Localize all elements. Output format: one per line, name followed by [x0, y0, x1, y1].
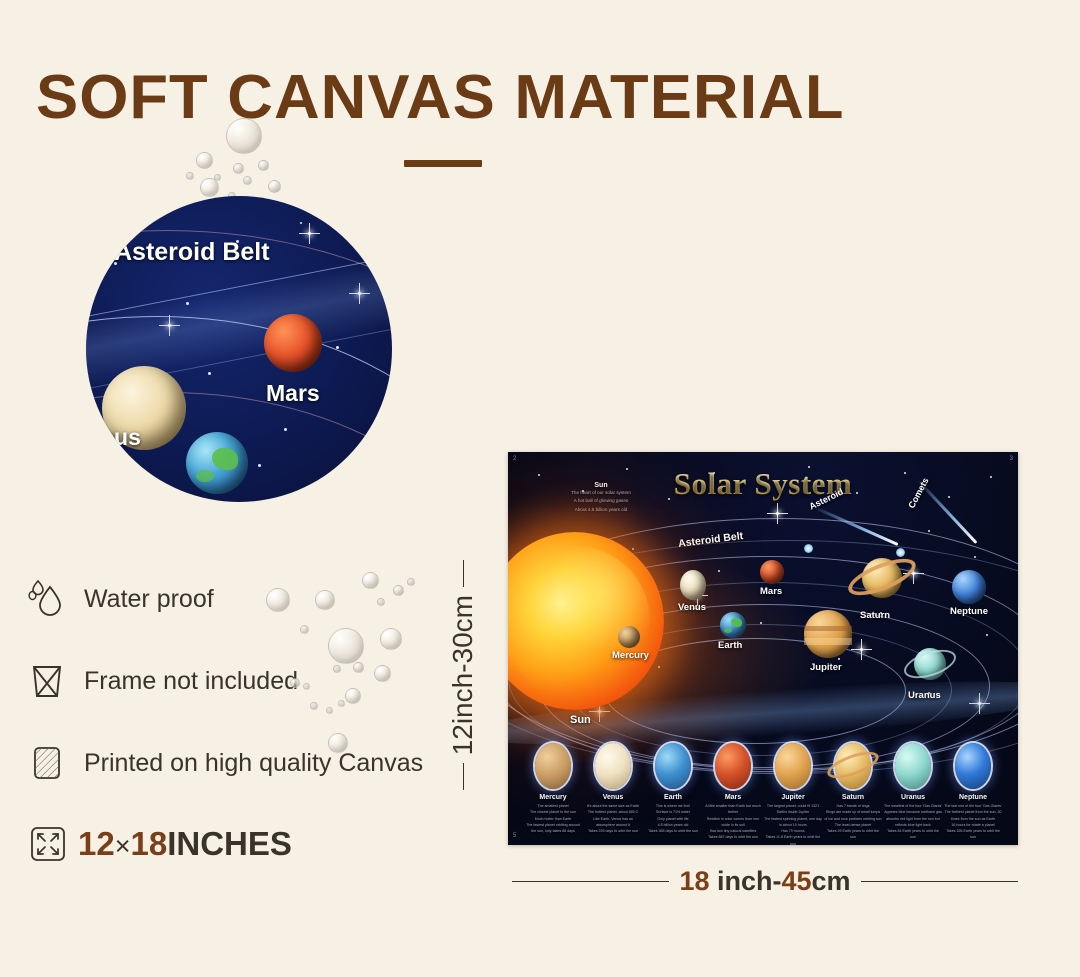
frame-crossed-icon — [26, 660, 68, 702]
feature-label: Water proof — [84, 585, 214, 614]
planet-portrait-uranus — [895, 743, 931, 789]
dimension-width-inch-unit: inch- — [709, 866, 781, 896]
feature-water-proof: Water proof — [26, 578, 214, 620]
title-underline — [404, 160, 482, 167]
planet-label-neptune: Neptune — [950, 606, 988, 617]
closeup-planet-mars — [264, 314, 322, 372]
planet-uranus — [904, 640, 956, 692]
asteroid-head — [804, 544, 813, 553]
planet-card: Mars A little smaller than Earth but muc… — [704, 743, 762, 841]
planet-label-uranus: Uranus — [908, 690, 941, 701]
planet-card-name: Mars — [704, 794, 762, 801]
planet-venus — [680, 570, 706, 600]
feature-canvas-quality: Printed on high quality Canvas — [26, 742, 423, 784]
solar-system-poster: 2 3 5 Solar System — [508, 452, 1018, 845]
planet-earth — [720, 612, 746, 638]
closeup-venus-label: nus — [100, 424, 141, 451]
size-width: 12 — [78, 825, 115, 862]
dimension-width-cm: 45 — [781, 866, 811, 896]
planet-card-name: Neptune — [944, 794, 1002, 801]
canvas-closeup-inset: Asteroid Belt nus Mars — [86, 196, 392, 502]
planet-label-mars: Mars — [760, 586, 782, 597]
sun-note-line: The heart of our solar system — [546, 489, 656, 497]
dimension-height: 12inch-30cm — [447, 560, 479, 790]
dimension-tick-bottom — [463, 763, 464, 790]
planet-jupiter — [804, 610, 852, 658]
planet-saturn — [848, 544, 916, 612]
sun-label: Sun — [570, 714, 591, 726]
dimension-width-cm-unit: cm — [812, 866, 851, 896]
planet-card: Venus It's about the same size as EarthT… — [584, 743, 642, 834]
size-unit: INCHES — [167, 825, 292, 862]
planet-portrait-venus — [595, 743, 631, 789]
planet-label-venus: Venus — [678, 602, 706, 613]
canvas-swatch-icon — [26, 742, 68, 784]
closeup-belt-label: Asteroid Belt — [114, 238, 270, 267]
planet-label-mercury: Mercury — [612, 650, 649, 661]
planet-card-name: Earth — [644, 794, 702, 801]
feature-label: Printed on high quality Canvas — [84, 749, 423, 778]
planet-mars — [760, 560, 784, 584]
planet-card-facts: The smallest planetThe closest planet to… — [524, 803, 582, 834]
planet-card-facts: The largest planet, could fit 1321 Earth… — [764, 803, 822, 845]
planet-portrait-mercury — [535, 743, 571, 789]
water-drop-icon — [26, 578, 68, 620]
page-title: SOFT CANVAS MATERIAL — [36, 62, 845, 133]
planet-card-name: Saturn — [824, 794, 882, 801]
planet-card: Saturn Has 7 bands of ringsRings are mad… — [824, 743, 882, 841]
planet-card-facts: The last one of the four 'Gas Giants'The… — [944, 803, 1002, 841]
planet-card-name: Jupiter — [764, 794, 822, 801]
sun-note-title: Sun — [546, 482, 656, 489]
planet-portrait-earth — [655, 743, 691, 789]
planet-card: Jupiter The largest planet, could fit 13… — [764, 743, 822, 845]
planet-portrait-mars — [715, 743, 751, 789]
planet-card-facts: A little smaller than Earth but much far… — [704, 803, 762, 841]
planet-card-name: Venus — [584, 794, 642, 801]
closeup-planet-earth — [186, 432, 248, 494]
planet-card-facts: It's about the same size as EarthThe hot… — [584, 803, 642, 834]
planet-card-name: Mercury — [524, 794, 582, 801]
planet-fact-strip: Mercury The smallest planetThe closest p… — [508, 737, 1018, 845]
dimension-tick-top — [463, 560, 464, 587]
resize-arrows-icon — [26, 822, 70, 866]
size-value: 12×18INCHES — [78, 825, 292, 863]
dimension-line-left — [512, 881, 669, 883]
size-row: 12×18INCHES — [26, 822, 292, 866]
planet-card-facts: This is where we live!Surface is 71% wat… — [644, 803, 702, 834]
sun-note-line: A hot ball of glowing gases — [546, 497, 656, 505]
closeup-mars-label: Mars — [266, 380, 320, 407]
feature-frame-not-included: Frame not included — [26, 660, 298, 702]
planet-card: Uranus The smallest of the four 'Gas Gia… — [884, 743, 942, 841]
planet-label-earth: Earth — [718, 640, 742, 651]
dimension-height-label: 12inch-30cm — [447, 587, 479, 763]
size-height: 18 — [131, 825, 168, 862]
planet-mercury — [618, 626, 640, 648]
planet-card-name: Uranus — [884, 794, 942, 801]
size-separator: × — [115, 831, 131, 861]
dimension-line-right — [861, 881, 1018, 883]
poster-corner-number-tl: 2 — [513, 456, 516, 462]
planet-card-facts: Has 7 bands of ringsRings are made up of… — [824, 803, 882, 841]
planet-card: Mercury The smallest planetThe closest p… — [524, 743, 582, 834]
planet-card-facts: The smallest of the four 'Gas Giants'App… — [884, 803, 942, 841]
planet-label-saturn: Saturn — [860, 610, 890, 621]
sun-note-line: About 4.5 billion years old — [546, 506, 656, 514]
dimension-width-inch: 18 — [679, 866, 709, 896]
planet-neptune — [952, 570, 986, 604]
dimension-width-label: 18 inch-45cm — [679, 866, 850, 897]
sun-description: Sun The heart of our solar system A hot … — [546, 482, 656, 514]
dimension-width: 18 inch-45cm — [512, 866, 1018, 897]
comet-head — [896, 548, 905, 557]
planet-portrait-saturn — [835, 743, 871, 789]
planet-label-jupiter: Jupiter — [810, 662, 842, 673]
planet-card: Neptune The last one of the four 'Gas Gi… — [944, 743, 1002, 841]
planet-portrait-neptune — [955, 743, 991, 789]
poster-corner-number-tr: 3 — [1010, 456, 1013, 462]
planet-portrait-jupiter — [775, 743, 811, 789]
planet-card: Earth This is where we live!Surface is 7… — [644, 743, 702, 834]
feature-label: Frame not included — [84, 667, 298, 696]
